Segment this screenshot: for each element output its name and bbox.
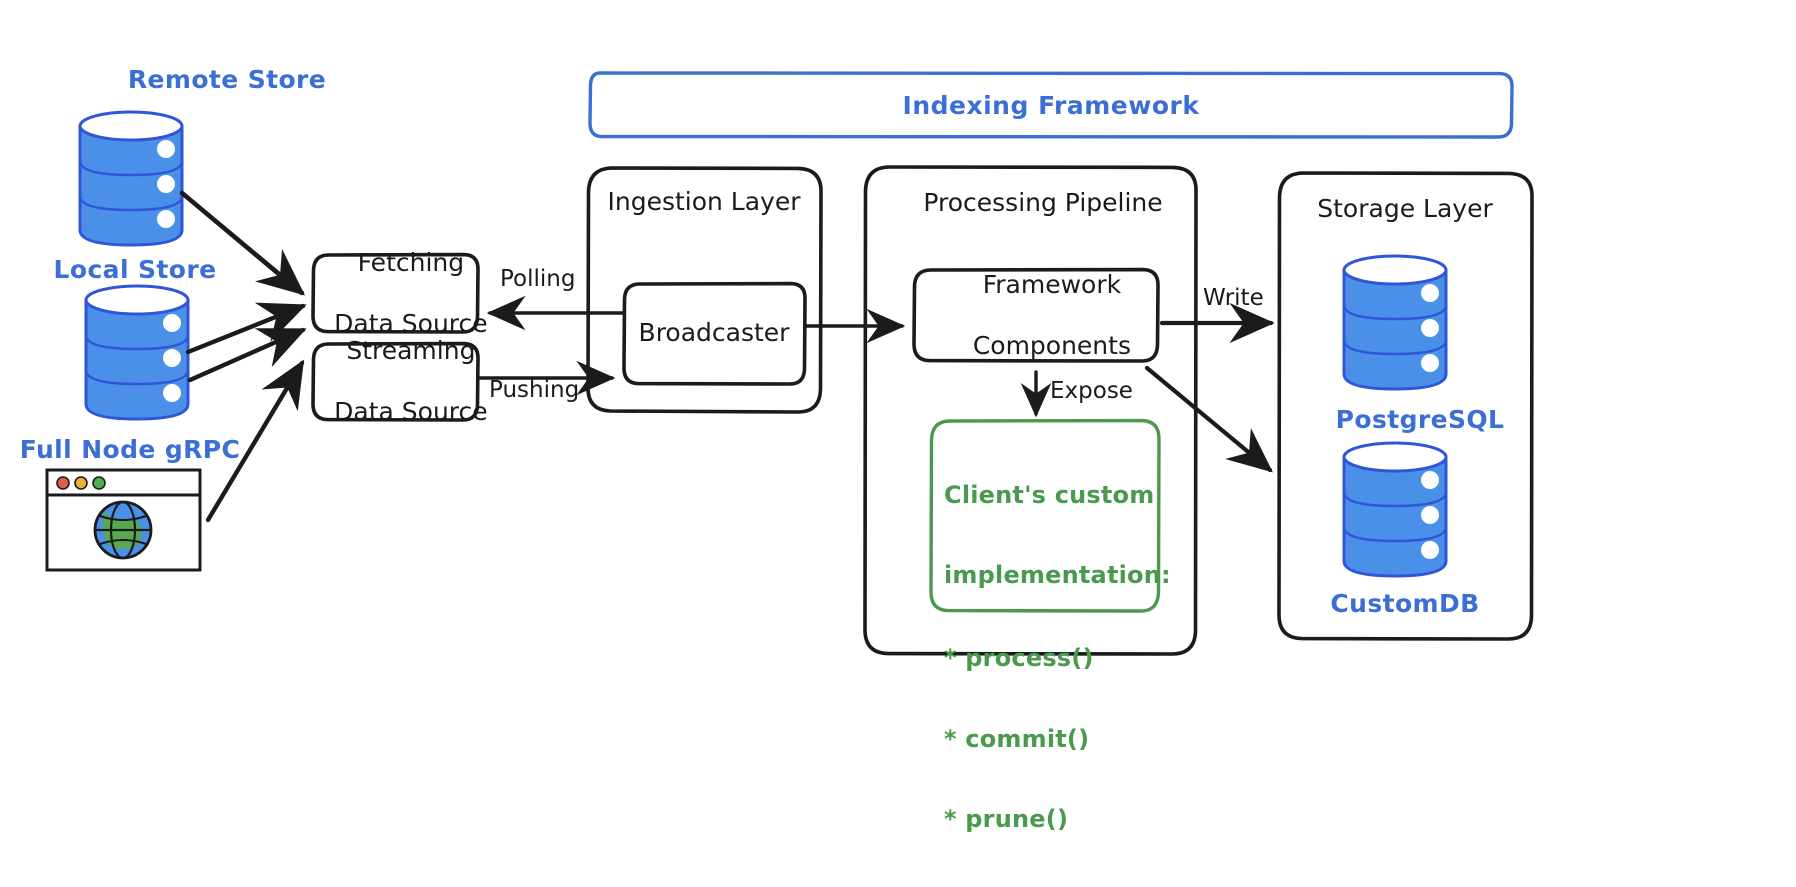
framework-components-line1: Framework <box>983 269 1121 298</box>
customdb-database-icon <box>1344 443 1446 576</box>
full-node-grpc-label: Full Node gRPC <box>20 436 241 464</box>
local-store-database-icon <box>86 286 188 419</box>
globe-icon <box>95 502 151 558</box>
client-custom-implementation-text: Client's custom implementation: * proces… <box>944 428 1171 887</box>
client-box-method-commit: * commit() <box>944 726 1171 753</box>
remote-store-database-icon <box>80 112 182 245</box>
indexing-framework-banner-label: Indexing Framework <box>903 92 1200 120</box>
postgresql-label: PostgreSQL <box>1336 406 1505 434</box>
processing-pipeline-title: Processing Pipeline <box>923 189 1162 217</box>
pushing-edge-label: Pushing <box>489 378 579 404</box>
arrow-local-store-to-streaming <box>190 330 303 380</box>
client-box-method-process: * process() <box>944 645 1171 672</box>
remote-store-label: Remote Store <box>128 66 326 94</box>
client-box-line2: implementation: <box>944 562 1171 589</box>
ingestion-layer-title: Ingestion Layer <box>607 188 800 216</box>
client-box-method-prune: * prune() <box>944 806 1171 833</box>
expose-edge-label: Expose <box>1050 379 1133 405</box>
streaming-data-source-text: Streaming Data Source <box>302 305 487 458</box>
postgresql-database-icon <box>1344 256 1446 389</box>
fetching-data-source-line1: Fetching <box>358 247 464 276</box>
customdb-label: CustomDB <box>1330 590 1479 618</box>
streaming-data-source-line1: Streaming <box>346 335 475 364</box>
diagram-vector-layer <box>0 0 1796 818</box>
full-node-grpc-browser-window-icon <box>47 470 200 570</box>
storage-layer-title: Storage Layer <box>1317 195 1492 223</box>
client-box-line1: Client's custom <box>944 482 1171 509</box>
polling-edge-label: Polling <box>500 267 575 293</box>
framework-components-text: Framework Components <box>941 239 1131 392</box>
broadcaster-label: Broadcaster <box>639 318 790 349</box>
write-edge-label: Write <box>1203 286 1264 312</box>
diagram-canvas: Indexing Framework Remote Store Local St… <box>0 0 1796 818</box>
framework-components-line2: Components <box>973 330 1131 359</box>
streaming-data-source-line2: Data Source <box>334 396 488 425</box>
local-store-label: Local Store <box>54 256 217 284</box>
arrow-local-store-to-fetching <box>188 306 303 352</box>
